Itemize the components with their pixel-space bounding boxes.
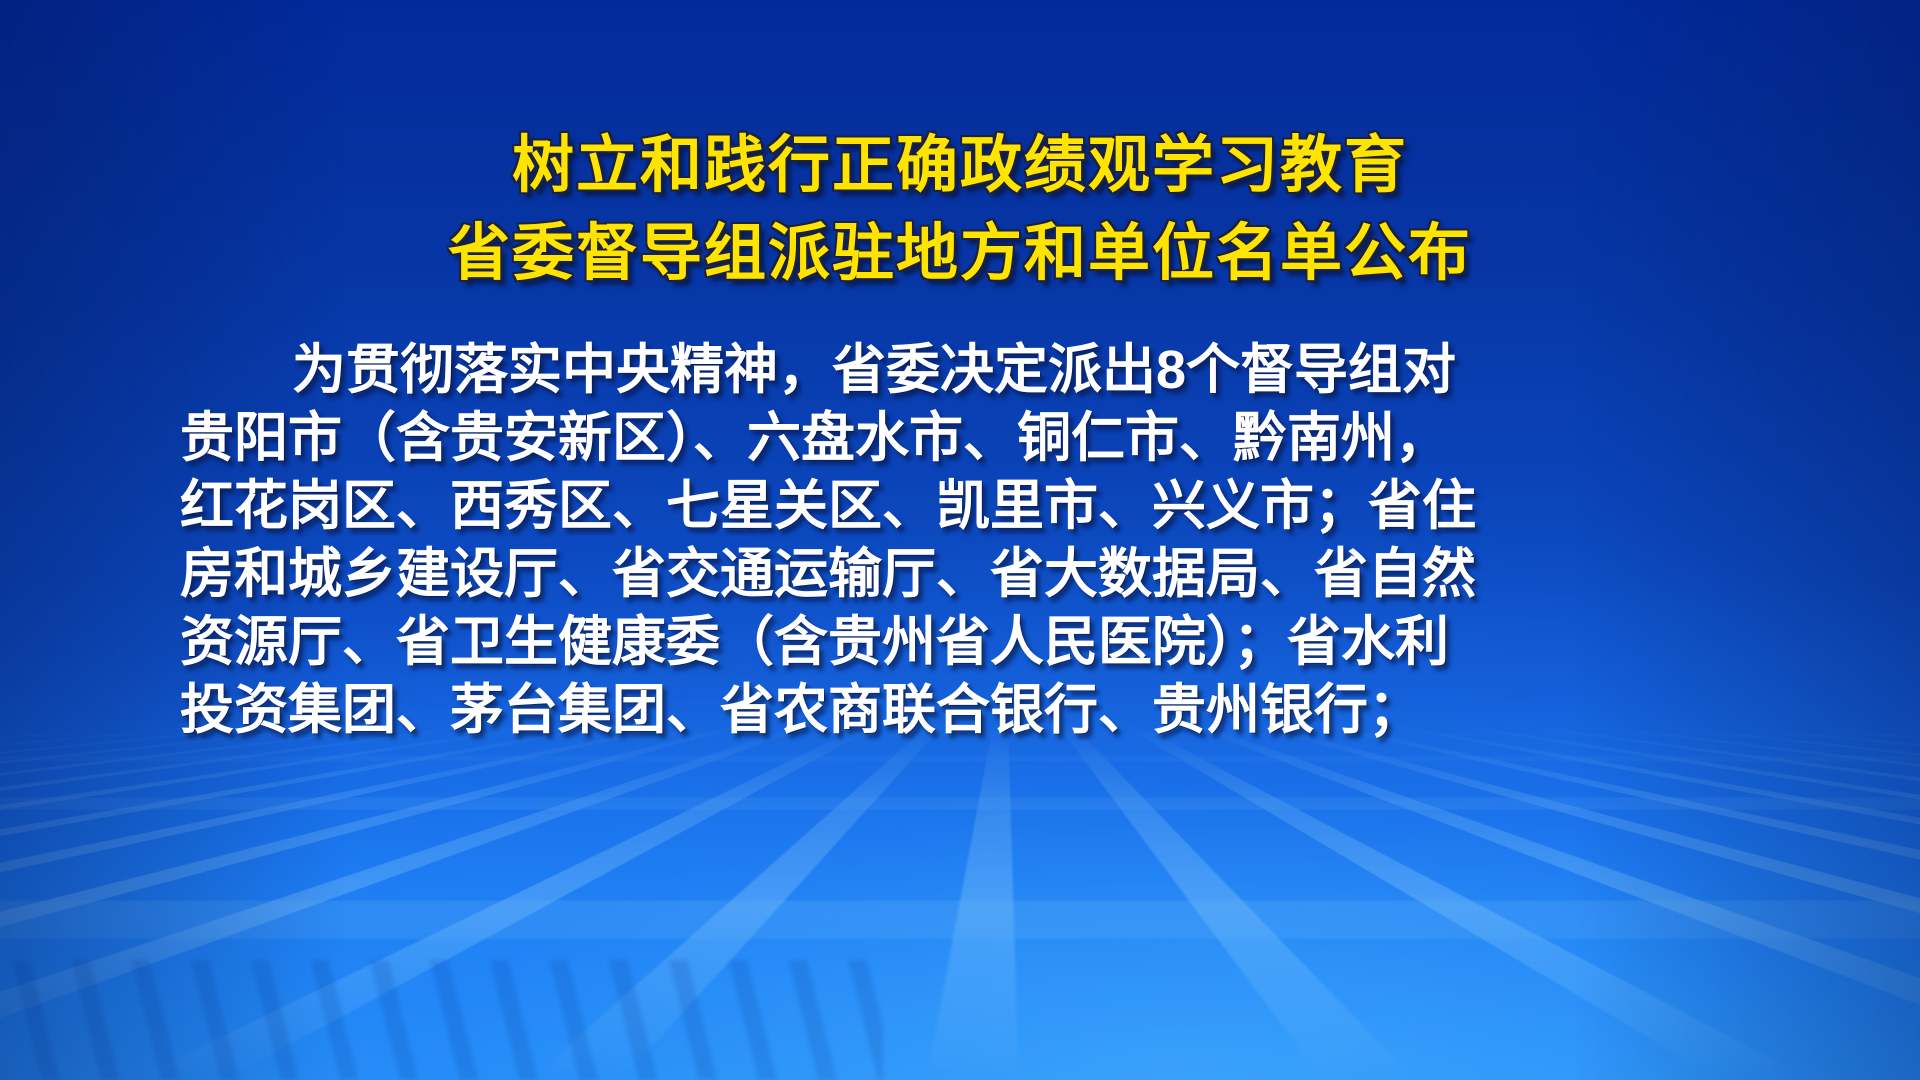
body-line-4: 房和城乡建设厅、省交通运输厅、省大数据局、省自然 [180, 540, 1740, 608]
content-container: 树立和践行正确政绩观学习教育 省委督导组派驻地方和单位名单公布 为贯彻落实中央精… [0, 0, 1920, 1080]
body-line-6: 投资集团、茅台集团、省农商联合银行、贵州银行； [180, 676, 1740, 744]
body-line-2: 贵阳市（含贵安新区）、六盘水市、铜仁市、黔南州， [180, 404, 1740, 472]
body-line-3: 红花岗区、西秀区、七星关区、凯里市、兴义市；省住 [180, 472, 1740, 540]
body-line-5: 资源厅、省卫生健康委（含贵州省人民医院）；省水利 [180, 608, 1740, 676]
headline-block: 树立和践行正确政绩观学习教育 省委督导组派驻地方和单位名单公布 [0, 128, 1920, 292]
body-paragraph: 为贯彻落实中央精神，省委决定派出8个督导组对 贵阳市（含贵安新区）、六盘水市、铜… [180, 336, 1740, 744]
body-line-1: 为贯彻落实中央精神，省委决定派出8个督导组对 [180, 336, 1740, 404]
headline-line-1: 树立和践行正确政绩观学习教育 [0, 128, 1920, 204]
broadcast-title-card: 树立和践行正确政绩观学习教育 省委督导组派驻地方和单位名单公布 为贯彻落实中央精… [0, 0, 1920, 1080]
headline-line-2: 省委督导组派驻地方和单位名单公布 [0, 216, 1920, 292]
